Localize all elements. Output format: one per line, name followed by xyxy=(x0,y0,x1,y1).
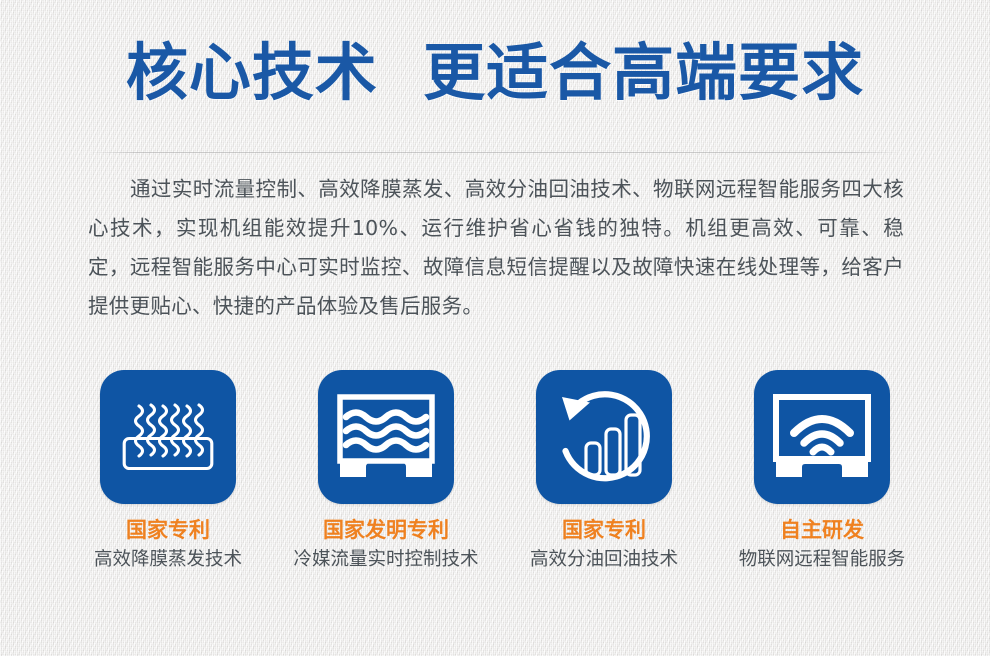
feature-card-row: 国家专利 高效降膜蒸发技术 国家发明专利 xyxy=(100,370,890,572)
oil-separation-return-icon xyxy=(554,387,654,487)
feature-badge: 自主研发 xyxy=(780,517,864,543)
feature-caption: 物联网远程智能服务 xyxy=(739,548,906,572)
feature-icon-tile xyxy=(754,370,890,504)
feature-badge: 国家专利 xyxy=(562,517,646,543)
refrigerant-flow-control-icon xyxy=(336,393,436,481)
feature-badge: 国家发明专利 xyxy=(323,517,449,543)
page-title: 核心技术 更适合高端要求 xyxy=(0,36,990,110)
feature-card[interactable]: 国家发明专利 冷媒流量实时控制技术 xyxy=(318,370,454,572)
iot-remote-service-icon xyxy=(772,393,872,481)
feature-caption: 冷媒流量实时控制技术 xyxy=(294,548,479,572)
feature-card[interactable]: 国家专利 高效分油回油技术 xyxy=(536,370,672,572)
feature-card[interactable]: 国家专利 高效降膜蒸发技术 xyxy=(100,370,236,572)
feature-icon-tile xyxy=(100,370,236,504)
feature-icon-tile xyxy=(318,370,454,504)
falling-film-evaporator-icon xyxy=(122,394,214,480)
feature-caption: 高效分油回油技术 xyxy=(530,548,678,572)
page-content: 核心技术 更适合高端要求 通过实时流量控制、高效降膜蒸发、高效分油回油技术、物联… xyxy=(0,0,990,656)
feature-caption: 高效降膜蒸发技术 xyxy=(94,548,242,572)
header-divider xyxy=(88,152,902,153)
feature-badge: 国家专利 xyxy=(126,517,210,543)
intro-paragraph: 通过实时流量控制、高效降膜蒸发、高效分油回油技术、物联网远程智能服务四大核心技术… xyxy=(88,170,904,326)
feature-icon-tile xyxy=(536,370,672,504)
feature-card[interactable]: 自主研发 物联网远程智能服务 xyxy=(754,370,890,572)
